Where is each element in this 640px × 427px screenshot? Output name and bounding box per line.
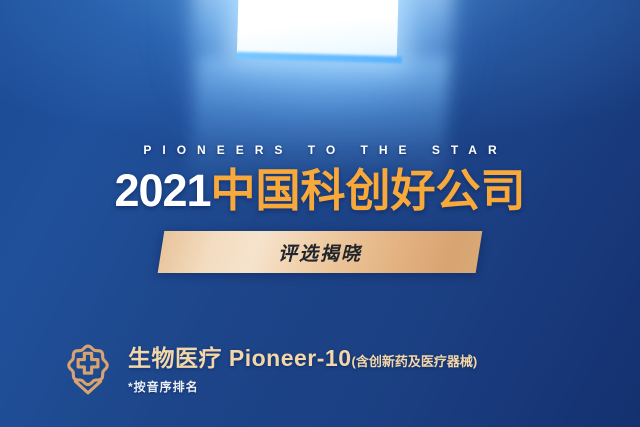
category-title-main: 生物医疗 Pioneer-10 <box>128 345 352 371</box>
category-note: *按音序排名 <box>128 378 477 395</box>
light-beam <box>186 0 454 200</box>
title-chinese: 中国科创好公司 <box>211 165 526 216</box>
category-text: 生物医疗 Pioneer-10(含创新药及医疗器械) *按音序排名 <box>128 342 477 395</box>
medical-quatrefoil-cross-icon <box>62 344 114 396</box>
headline-block: PIONEERS TO THE STAR 2021中国科创好公司 <box>0 144 640 213</box>
category-title: 生物医疗 Pioneer-10(含创新药及医疗器械) <box>128 346 477 372</box>
banner-label: 评选揭晓 <box>161 231 479 273</box>
light-beam-reflection <box>192 56 448 176</box>
light-panel <box>237 0 399 58</box>
banner-container: 评选揭晓 <box>0 231 640 273</box>
kicker-text: PIONEERS TO THE STAR <box>0 144 640 156</box>
announcement-banner: 评选揭晓 <box>158 231 483 273</box>
poster-canvas: PIONEERS TO THE STAR 2021中国科创好公司 评选揭晓 生物… <box>0 0 640 427</box>
title-year: 2021 <box>114 165 210 216</box>
light-glow <box>150 0 500 220</box>
main-title: 2021中国科创好公司 <box>0 168 640 213</box>
light-panel-edge <box>236 52 402 64</box>
category-title-parenthetical: (含创新药及医疗器械) <box>352 354 478 369</box>
category-row: 生物医疗 Pioneer-10(含创新药及医疗器械) *按音序排名 <box>62 342 477 396</box>
